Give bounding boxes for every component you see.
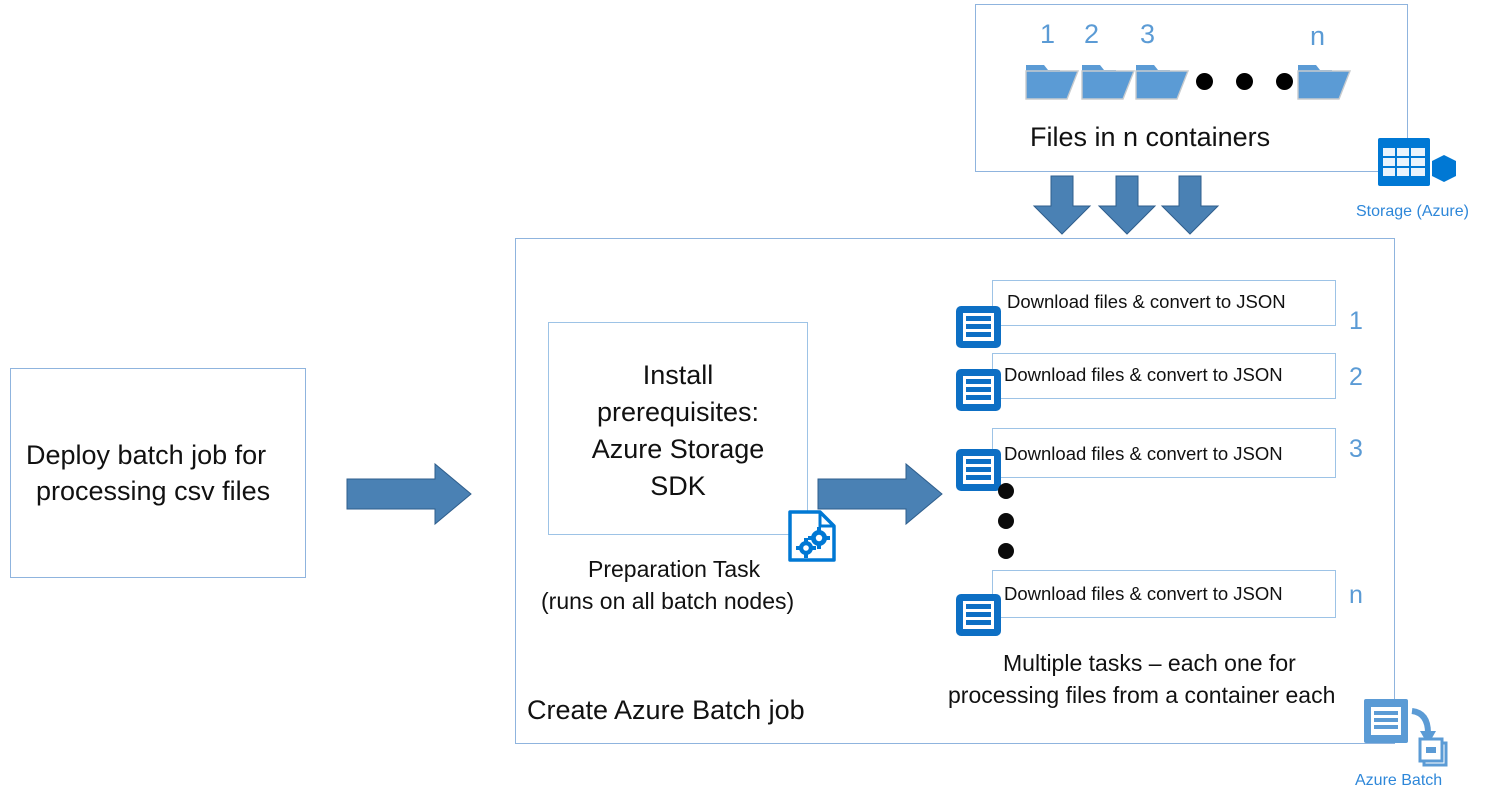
container-number-1: 1 (1040, 21, 1055, 48)
ellipsis-dot (1196, 73, 1213, 90)
arrow-down-icon (1032, 176, 1092, 236)
storage-caption: Files in n containers (1030, 122, 1270, 153)
prep-line-3: Azure Storage (592, 431, 765, 468)
start-box-line-1: Deploy batch job for (26, 440, 266, 471)
arrow-down-icon (1160, 176, 1220, 236)
ellipsis-dot (998, 513, 1014, 529)
task-list-icon (955, 593, 1002, 637)
task-label: Download files & convert to JSON (1007, 291, 1286, 313)
task-label: Download files & convert to JSON (1004, 364, 1283, 386)
task-number: 2 (1349, 365, 1363, 390)
storage-service-label: Storage (Azure) (1356, 203, 1469, 221)
preparation-task-text: Install prerequisites: Azure Storage SDK (548, 336, 808, 526)
prep-line-2: prerequisites: (597, 394, 759, 431)
task-label: Download files & convert to JSON (1004, 443, 1283, 465)
container-number-3: 3 (1140, 21, 1155, 48)
ellipsis-dot (1276, 73, 1293, 90)
task-list-icon (955, 305, 1002, 349)
storage-table-icon (1376, 136, 1458, 202)
task-list-icon (955, 448, 1002, 492)
prep-line-1: Install (643, 357, 714, 394)
task-label: Download files & convert to JSON (1004, 583, 1283, 605)
folder-icon (1296, 57, 1352, 102)
preparation-caption-line-1: Preparation Task (588, 556, 760, 583)
start-box-line-2: processing csv files (36, 476, 270, 507)
folder-icon (1080, 57, 1136, 102)
task-number: 1 (1349, 309, 1363, 334)
preparation-caption-line-2: (runs on all batch nodes) (541, 588, 794, 615)
arrow-right-prep-to-tasks (818, 462, 944, 526)
batch-panel-title: Create Azure Batch job (527, 695, 805, 726)
start-box (10, 368, 306, 578)
ellipsis-dot (998, 483, 1014, 499)
container-number-n: n (1310, 23, 1325, 50)
arrow-down-icon (1097, 176, 1157, 236)
task-number: n (1349, 583, 1363, 608)
azure-batch-service-label: Azure Batch (1355, 772, 1442, 790)
arrow-right-start-to-batch (347, 462, 473, 526)
tasks-caption-line-1: Multiple tasks – each one for (1003, 650, 1296, 677)
ellipsis-dot (998, 543, 1014, 559)
container-number-2: 2 (1084, 21, 1099, 48)
folder-icon (1134, 57, 1190, 102)
tasks-caption-line-2: processing files from a container each (948, 682, 1335, 709)
folder-icon (1024, 57, 1080, 102)
prep-line-4: SDK (650, 468, 706, 505)
azure-batch-icon (1362, 697, 1448, 769)
task-number: 3 (1349, 437, 1363, 462)
ellipsis-dot (1236, 73, 1253, 90)
task-list-icon (955, 368, 1002, 412)
